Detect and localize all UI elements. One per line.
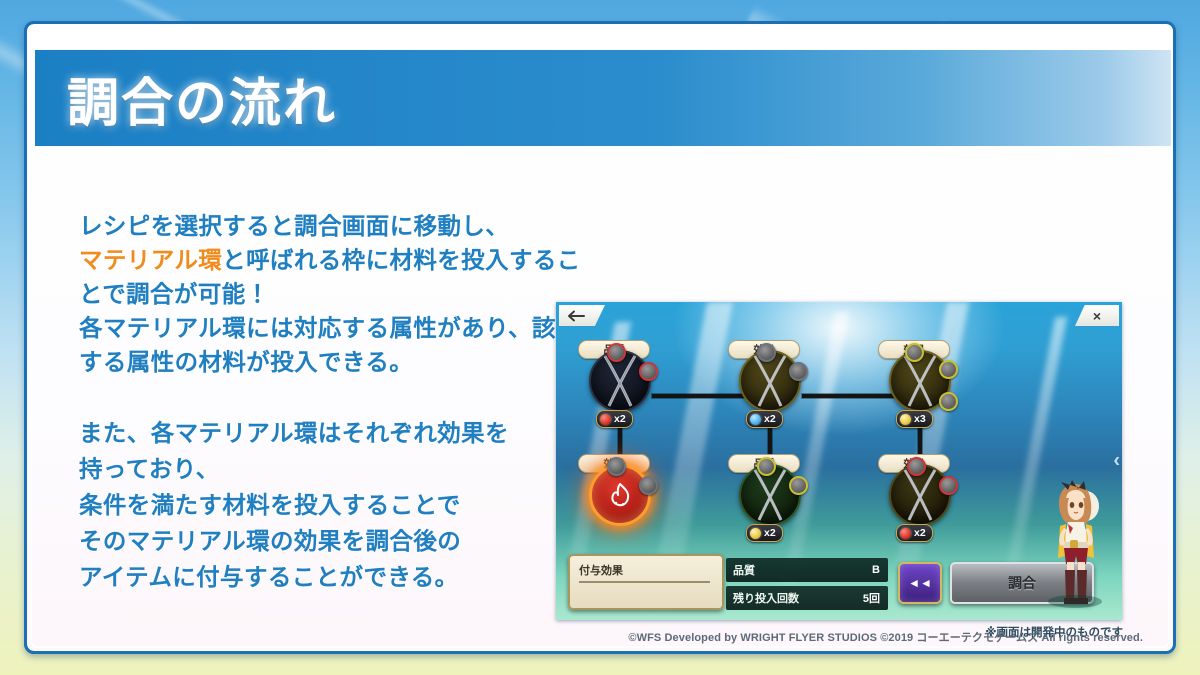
body-copy: レシピを選択すると調合画面に移動し、 マテリアル環と呼ばれる枠に材料を投入するこ… [79,209,599,595]
game-screenshot: × 品質 x2 効果 [556,302,1122,620]
ring-count-text: x2 [914,527,926,539]
granted-effect-panel: 付与効果 [568,554,724,610]
paragraph-1-line-3: 各マテリアル環には対応する属性があり、該当する属性の材料が投入できる。 [79,311,599,379]
element-icon-bolt [750,528,761,539]
material-ring-1[interactable] [589,350,651,412]
ring-count-badge-1: x2 [596,410,633,428]
element-icon-water [750,414,761,425]
ring-slot[interactable] [757,457,776,476]
stat-key: 残り投入回数 [733,590,799,606]
material-ring-6[interactable] [889,464,951,526]
ring-slot[interactable] [789,476,808,495]
paragraph-1-line-1: レシピを選択すると調合画面に移動し、 [79,209,599,243]
slide-frame: 調合の流れ レシピを選択すると調合画面に移動し、 マテリアル環と呼ばれる枠に材料… [24,21,1176,654]
character-avatar [1042,476,1108,608]
ring-slot[interactable] [905,343,924,362]
stat-row-quality: 品質 B [726,558,888,582]
material-ring-5[interactable] [739,464,801,526]
element-icon-fire [900,528,911,539]
ring-slot[interactable] [607,457,626,476]
ring-slot[interactable] [789,362,808,381]
side-chevron-icon[interactable]: ‹ [1113,450,1120,473]
ring-count-badge-2: x2 [746,410,783,428]
copyright-text: ©WFS Developed by WRIGHT FLYER STUDIOS ©… [628,629,1143,645]
chibi-character-icon [1042,476,1108,608]
ring-slot[interactable] [639,362,658,381]
paragraph-2-line-1: また、各マテリアル環はそれぞれ効果を [79,415,599,451]
granted-effect-label: 付与効果 [579,562,623,578]
ring-count-badge-5: x2 [746,524,783,542]
paragraph-1-line-2: マテリアル環と呼ばれる枠に材料を投入することで調合が可能！ [79,243,599,311]
ring-slot[interactable] [939,476,958,495]
ring-count-text: x2 [764,413,776,425]
highlight-material-ring: マテリアル環 [79,247,222,273]
ring-count-text: x2 [764,527,776,539]
ring-count-text: x2 [614,413,626,425]
corner-notch-top-left [24,21,53,50]
paragraph-2-line-2: 持っており、 [79,451,599,487]
material-ring-3[interactable] [889,350,951,412]
stat-value: 5回 [863,590,880,606]
fire-element-glyph-icon [605,480,635,510]
ring-slot[interactable] [939,360,958,379]
element-icon-bolt [900,414,911,425]
ring-slot[interactable] [907,457,926,476]
character-shadow [1048,595,1102,608]
material-ring-2[interactable] [739,350,801,412]
undo-button[interactable]: ◄◄ [898,562,942,604]
ring-count-badge-3: x3 [896,410,933,428]
back-arrow-icon [567,310,585,322]
ring-count-badge-6: x2 [896,524,933,542]
ring-slot[interactable] [939,392,958,411]
paragraph-2-line-4: そのマテリアル環の効果を調合後の [79,523,599,559]
paragraph-2: また、各マテリアル環はそれぞれ効果を 持っており、 条件を満たす材料を投入するこ… [79,415,599,595]
element-icon-fire [600,414,611,425]
ring-slot[interactable] [639,476,658,495]
material-ring-4-active[interactable] [589,464,651,526]
granted-effect-divider [579,581,710,583]
ring-count-text: x3 [914,413,926,425]
stat-key: 品質 [733,562,755,578]
corner-notch-bottom-left [24,625,53,654]
ring-slot[interactable] [757,343,776,362]
title-banner: 調合の流れ [35,50,1171,146]
stat-value: B [872,564,880,576]
paragraph-2-line-3: 条件を満たす材料を投入することで [79,487,599,523]
stats-panel: 品質 B 残り投入回数 5回 [726,558,888,610]
page-title: 調合の流れ [67,61,337,136]
ring-slot[interactable] [607,343,626,362]
paragraph-2-line-5: アイテムに付与することができる。 [79,559,599,595]
stat-row-remaining: 残り投入回数 5回 [726,586,888,610]
paragraph-1: レシピを選択すると調合画面に移動し、 マテリアル環と呼ばれる枠に材料を投入するこ… [79,209,599,379]
